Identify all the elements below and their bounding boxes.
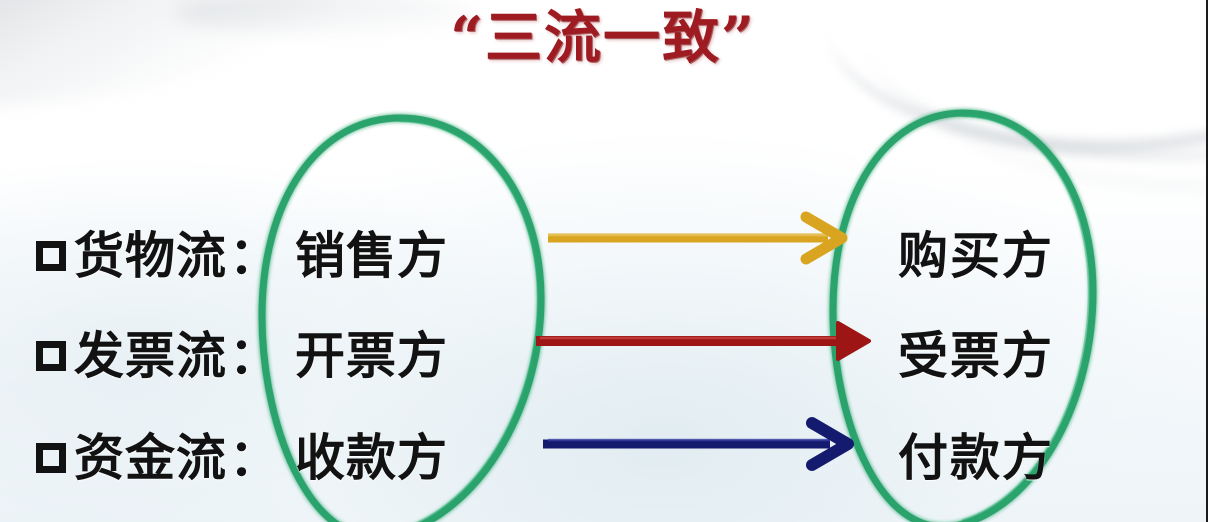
flow-label-goods: 货物流	[74, 231, 227, 281]
target-row-goods: 购买方	[898, 206, 1148, 306]
source-party-invoice: 开票方	[281, 331, 448, 381]
flow-row-invoice: 发票流 ： 开票方	[36, 306, 556, 406]
target-row-invoice: 受票方	[898, 306, 1148, 406]
target-party-goods: 购买方	[898, 231, 1054, 281]
slide-canvas: “三流一致”	[0, 0, 1208, 522]
flow-row-funds: 资金流 ： 收款方	[36, 406, 556, 510]
flow-target-column: 购买方 受票方 付款方	[898, 206, 1148, 510]
flow-label-funds: 资金流	[74, 433, 227, 483]
flow-row-goods: 货物流 ： 销售方	[36, 206, 556, 306]
flow-label-invoice: 发票流	[74, 331, 227, 381]
flow-source-column: 货物流 ： 销售方 发票流 ： 开票方 资金流 ： 收款方	[36, 206, 556, 510]
checkbox-square-icon[interactable]	[36, 341, 66, 371]
checkbox-square-icon[interactable]	[36, 443, 66, 473]
checkbox-square-icon[interactable]	[36, 241, 66, 271]
goods-flow-arrow	[548, 217, 842, 259]
target-party-funds: 付款方	[898, 433, 1054, 483]
flow-colon-invoice: ：	[227, 331, 281, 381]
flow-colon-goods: ：	[227, 231, 281, 281]
invoice-flow-arrow	[536, 323, 869, 359]
page-title: “三流一致”	[0, 2, 1206, 74]
target-row-funds: 付款方	[898, 406, 1148, 510]
source-party-goods: 销售方	[281, 231, 448, 281]
source-party-funds: 收款方	[281, 433, 448, 483]
target-party-invoice: 受票方	[898, 331, 1054, 381]
funds-flow-arrow	[543, 423, 848, 465]
flow-colon-funds: ：	[227, 433, 281, 483]
